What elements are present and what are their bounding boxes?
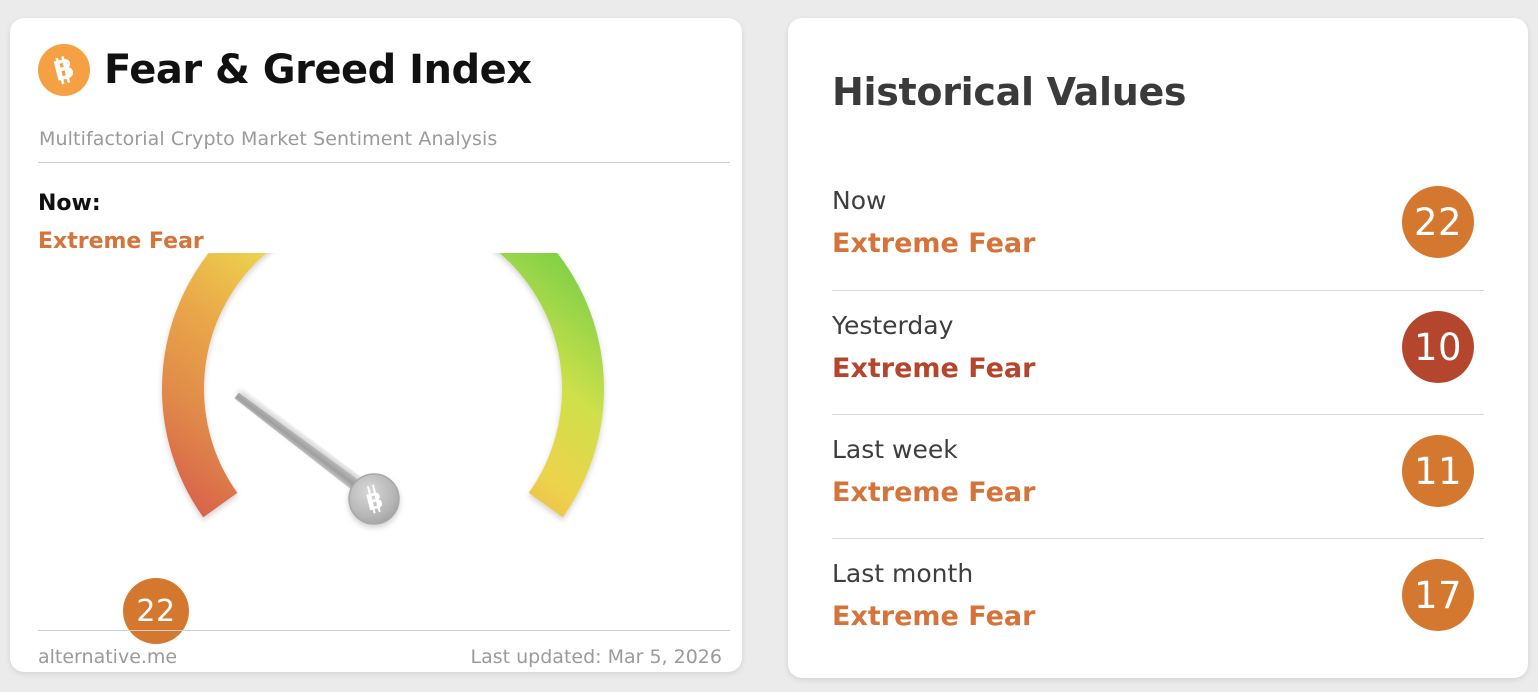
gauge-value-badge: 22: [123, 578, 189, 644]
header-divider: [38, 162, 730, 163]
gauge-chart: B 22: [38, 253, 728, 613]
history-period-label: Last week: [832, 435, 958, 464]
history-period-label: Now: [832, 186, 886, 215]
historical-values-card: Historical Values NowExtreme Fear22Yeste…: [788, 18, 1528, 678]
now-label: Now:: [38, 190, 101, 218]
history-row: Last monthExtreme Fear17: [832, 538, 1484, 662]
brand-row: B Fear & Greed Index: [38, 44, 532, 96]
history-title: Historical Values: [832, 70, 1186, 114]
history-classification: Extreme Fear: [832, 228, 1035, 259]
history-classification: Extreme Fear: [832, 601, 1035, 632]
page-title: Fear & Greed Index: [104, 50, 532, 90]
history-row: Last weekExtreme Fear11: [832, 414, 1484, 538]
now-classification: Extreme Fear: [38, 228, 204, 256]
history-list: NowExtreme Fear22YesterdayExtreme Fear10…: [832, 166, 1484, 662]
history-value-badge: 17: [1402, 559, 1474, 631]
history-row: YesterdayExtreme Fear10: [832, 290, 1484, 414]
source-link[interactable]: alternative.me: [38, 646, 177, 668]
fear-greed-gauge-card: B Fear & Greed Index Multifactorial Cryp…: [10, 18, 742, 672]
bitcoin-icon: B: [38, 44, 90, 96]
history-value-badge: 22: [1402, 186, 1474, 258]
history-row: NowExtreme Fear22: [832, 166, 1484, 290]
page-subtitle: Multifactorial Crypto Market Sentiment A…: [39, 128, 497, 150]
last-updated-text: Last updated: Mar 5, 2026: [471, 646, 722, 668]
footer-divider: [38, 630, 730, 631]
history-period-label: Last month: [832, 559, 973, 588]
history-value-badge: 11: [1402, 435, 1474, 507]
history-classification: Extreme Fear: [832, 353, 1035, 384]
history-classification: Extreme Fear: [832, 477, 1035, 508]
history-value-badge: 10: [1402, 311, 1474, 383]
history-period-label: Yesterday: [832, 311, 953, 340]
